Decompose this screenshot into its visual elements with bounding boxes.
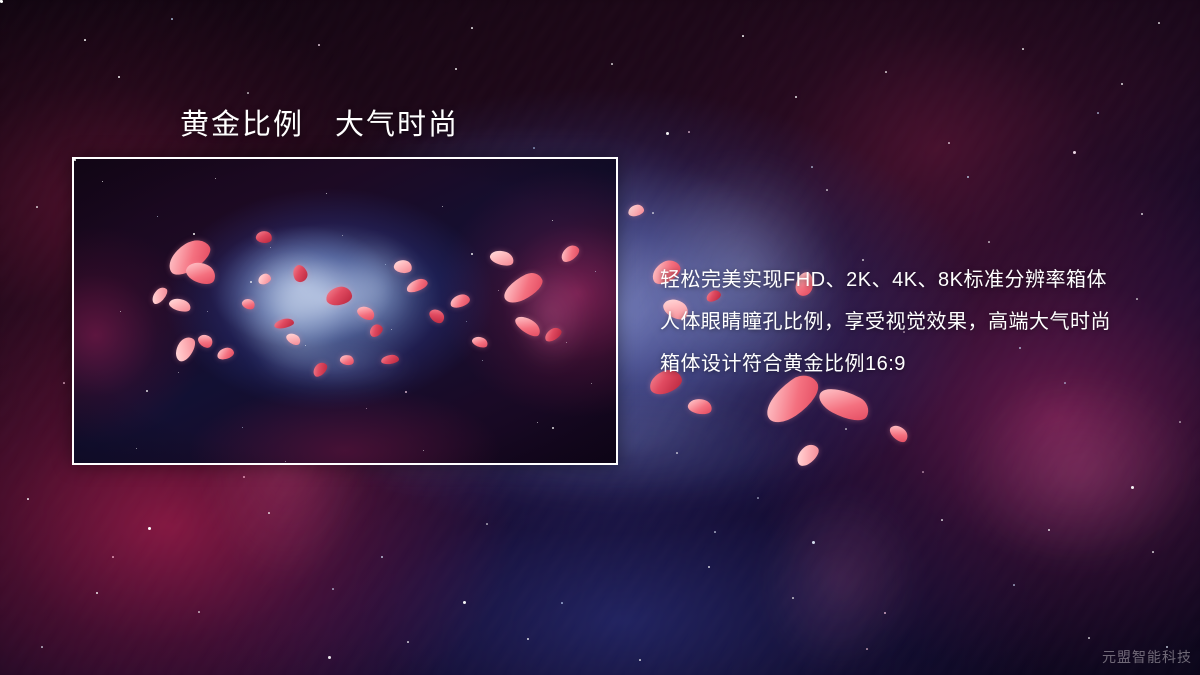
page-title: 黄金比例 大气时尚	[180, 101, 459, 143]
body-line: 人体眼睛瞳孔比例，享受视觉效果，高端大气时尚	[660, 301, 1160, 343]
watermark: 元盟智能科技	[1102, 647, 1192, 667]
presentation-slide: 黄金比例 大气时尚 轻松完美实现FHD、2K、4K、8K标准分辨率箱体 人体眼睛…	[0, 0, 1200, 675]
body-text-block: 轻松完美实现FHD、2K、4K、8K标准分辨率箱体 人体眼睛瞳孔比例，享受视觉效…	[660, 259, 1160, 385]
framed-image-wisps	[74, 159, 616, 463]
body-line: 轻松完美实现FHD、2K、4K、8K标准分辨率箱体	[660, 259, 1160, 301]
body-line: 箱体设计符合黄金比例16:9	[660, 343, 1160, 385]
image-frame[interactable]	[72, 157, 618, 465]
